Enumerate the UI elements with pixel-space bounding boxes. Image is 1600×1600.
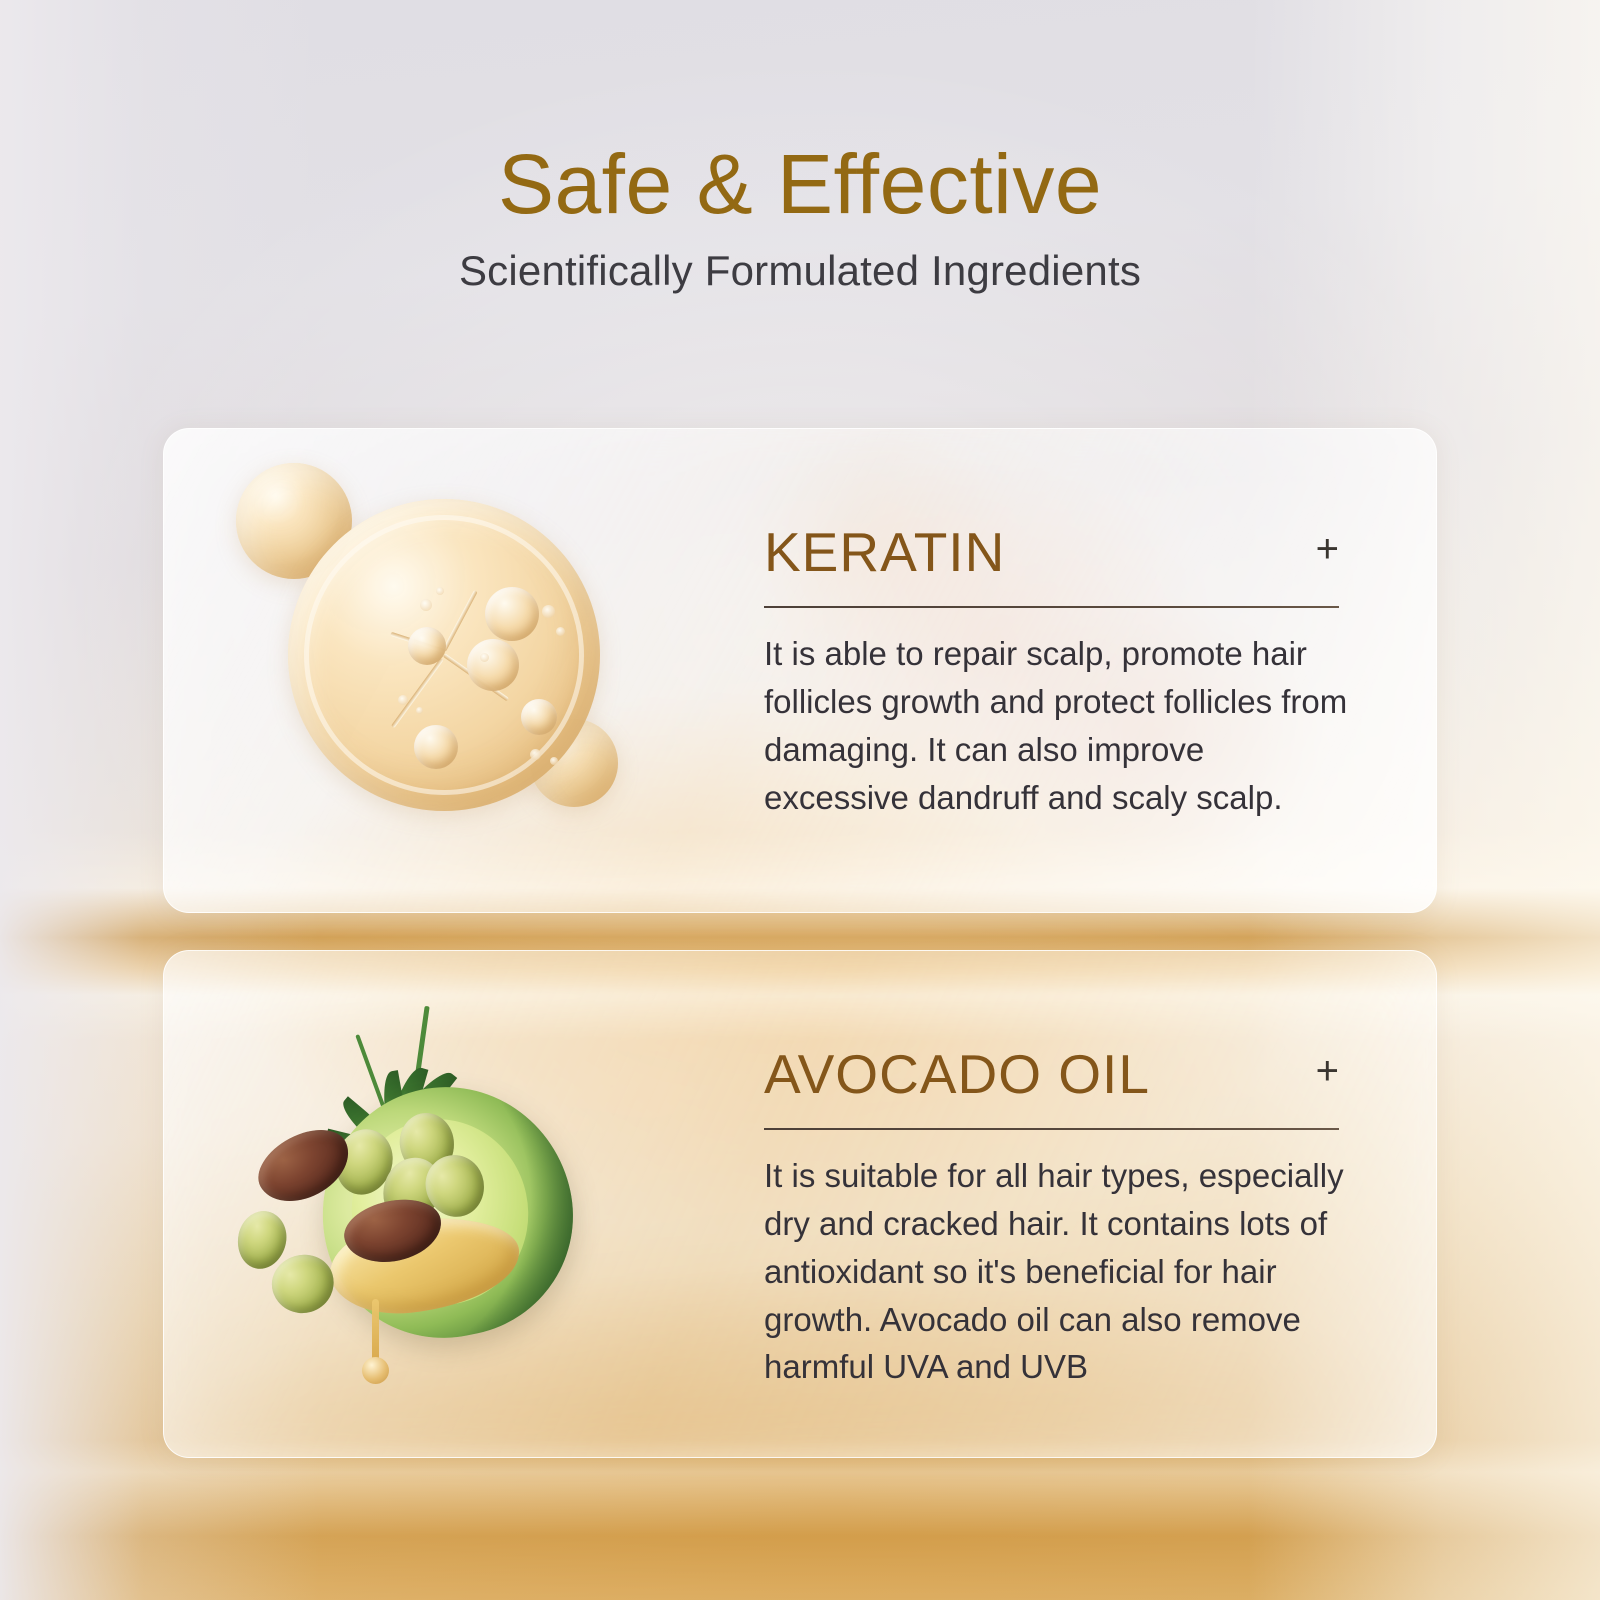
avocado-visual-column: [164, 951, 764, 1457]
bubble-sparkle: [530, 749, 541, 760]
bubble-sparkle: [420, 599, 432, 611]
keratin-divider: [764, 606, 1339, 608]
ingredient-title-avocado-oil: AVOCADO OIL: [764, 1047, 1150, 1102]
oil-droplet: [362, 1357, 389, 1384]
page-title: Safe & Effective: [0, 136, 1600, 233]
bubble-sparkle: [550, 757, 558, 765]
avocado-oil-image: [212, 969, 642, 1419]
bubble-sparkle: [436, 587, 444, 595]
plus-icon[interactable]: +: [1316, 531, 1339, 567]
ingredient-card-keratin[interactable]: KERATIN + It is able to repair scalp, pr…: [163, 428, 1437, 913]
molecule-node: [467, 639, 519, 691]
molecule-node: [521, 699, 557, 735]
avocado-header-row: AVOCADO OIL +: [764, 1047, 1339, 1102]
avocado-divider: [764, 1128, 1339, 1130]
poster-canvas: Safe & Effective Scientifically Formulat…: [0, 0, 1600, 1600]
plus-icon[interactable]: +: [1316, 1053, 1339, 1089]
page-subtitle: Scientifically Formulated Ingredients: [0, 247, 1600, 295]
ingredient-card-avocado-oil[interactable]: AVOCADO OIL + It is suitable for all hai…: [163, 950, 1437, 1458]
keratin-molecule-bubble-image: [230, 457, 660, 857]
molecule-node: [485, 587, 539, 641]
avocado-text-column: AVOCADO OIL + It is suitable for all hai…: [764, 951, 1436, 1457]
bubble-sparkle: [556, 627, 565, 636]
ingredient-title-keratin: KERATIN: [764, 525, 1005, 580]
keratin-header-row: KERATIN +: [764, 525, 1339, 580]
ingredient-description-keratin: It is able to repair scalp, promote hair…: [764, 630, 1352, 821]
header: Safe & Effective Scientifically Formulat…: [0, 0, 1600, 295]
bubble-sparkle: [416, 707, 423, 714]
bubble-sparkle: [542, 605, 555, 618]
bubble-sparkle: [398, 695, 408, 705]
bubble-sparkle: [480, 653, 489, 662]
molecule-node: [414, 725, 458, 769]
oil-drip: [372, 1299, 379, 1365]
ingredient-description-avocado-oil: It is suitable for all hair types, espec…: [764, 1152, 1352, 1391]
keratin-visual-column: [164, 429, 764, 912]
molecule-node: [408, 627, 446, 665]
keratin-text-column: KERATIN + It is able to repair scalp, pr…: [764, 429, 1436, 912]
